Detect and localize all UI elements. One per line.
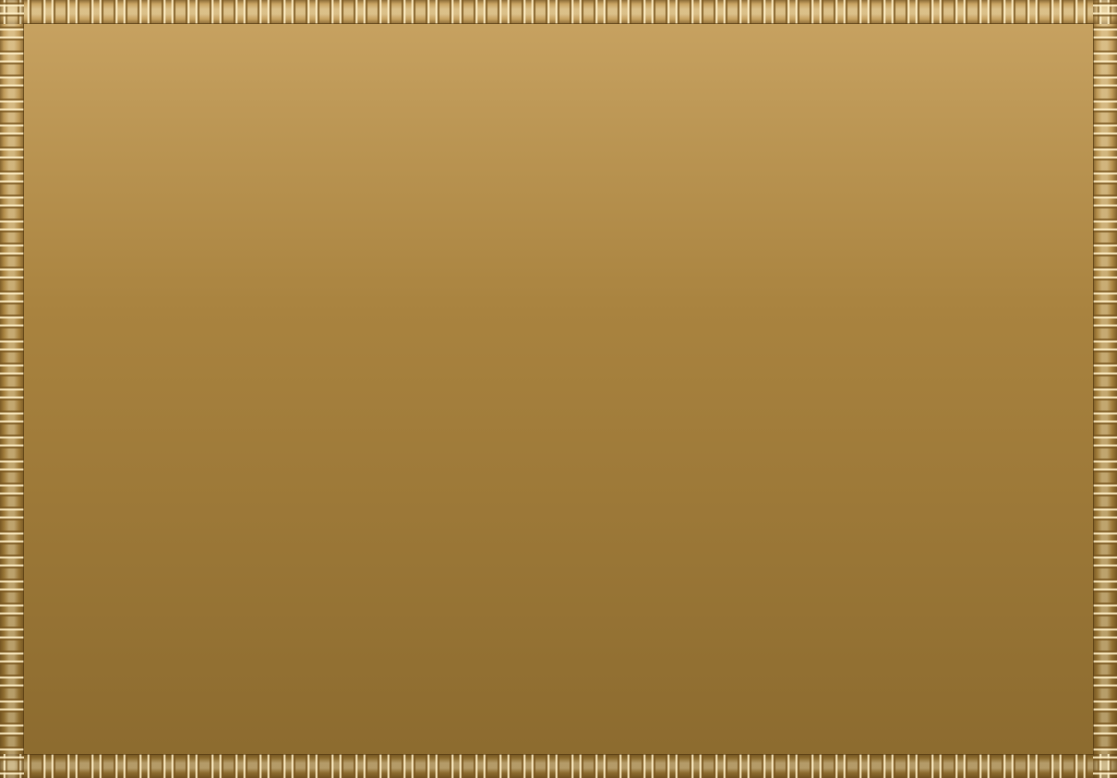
label-volcanic-steam: Volcanic steam [106,115,174,152]
label-groundwater-storage: Groundwater storage [373,708,543,726]
label-plant-uptake: Plant uptake [505,536,559,573]
label-flora-and-fauna: Flora and fauna [582,493,658,530]
water-cycle-figure: The Water Cycle Volcanic steamWater in t… [0,0,1117,778]
label-streamflow: Streamflow [323,461,414,479]
label-fog-drip: Fog drip [448,336,480,373]
label-sublimation: Sublimation [410,206,506,224]
label-snowmelt-runoff: Snowmelt runoff [151,390,284,408]
label-infiltration: Infiltration [39,474,121,492]
label-evaporation-lake: Evaporation [443,472,540,490]
label-water-in-atmosphere: Water in the atmosphere [499,162,694,180]
label-evapotranspiration: Evapotranspiration [642,277,795,295]
frame-chain-left [0,0,24,778]
label-precipitation: Precipitation [198,282,300,300]
frame-chain-top [0,0,1117,24]
page-title: The Water Cycle [24,48,1093,84]
diagram-canvas: The Water Cycle Volcanic steamWater in t… [24,24,1093,754]
label-seepage: Seepage [248,504,317,522]
frame-chain-right [1093,0,1117,778]
label-vents-and-volcanoes: Vents and volcanoes [798,694,880,731]
spring-pool [308,550,364,578]
frame-chain-bottom [0,754,1117,778]
label-dew: Dew [792,405,827,423]
label-condensation: Condensation [962,180,1074,198]
label-ice-and-snow: Ice and snow [57,256,115,293]
label-oceans: Oceans [970,560,1031,578]
label-freshwater: Freshwater [387,565,477,583]
label-desublimation: Desublimation [429,279,545,297]
label-surface-runoff: Surface runoff [595,347,657,384]
label-evaporation-ocean: Evaporation [870,293,967,311]
label-spring: Spring [313,536,366,554]
